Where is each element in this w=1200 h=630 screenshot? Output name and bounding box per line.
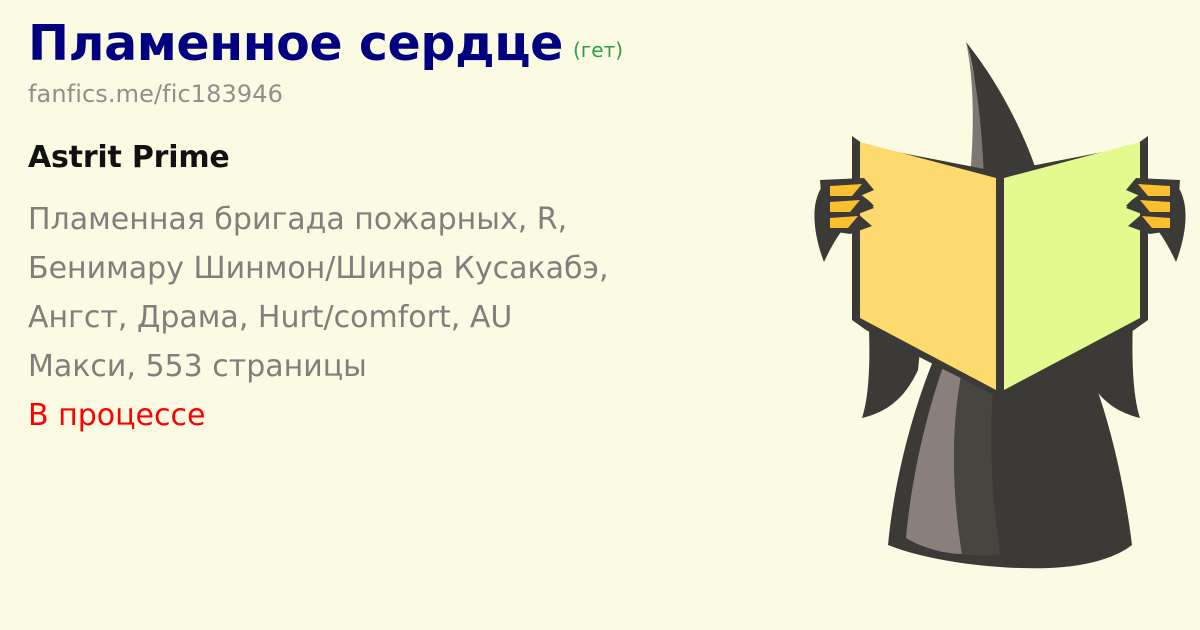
book-spine — [998, 172, 1002, 398]
witch-reading-book-icon — [800, 0, 1200, 630]
category-badge: (гет) — [573, 38, 623, 62]
left-claw-1 — [830, 184, 862, 196]
open-book — [852, 136, 1148, 398]
left-claw-3 — [830, 216, 858, 228]
right-claw-2 — [1140, 200, 1170, 212]
robe-group — [888, 320, 1132, 568]
right-sleeve — [1072, 228, 1140, 418]
hat-cone — [964, 42, 1052, 244]
left-claw-2 — [830, 200, 860, 212]
meta-line-fandom-rating: Пламенная бригада пожарных, R, — [28, 195, 818, 244]
author-name[interactable]: Astrit Prime — [28, 140, 818, 175]
title-row: Пламенное сердце (гет) — [28, 18, 818, 71]
right-hand-fingers — [1126, 178, 1180, 234]
hat-brim — [938, 200, 1068, 298]
hat-buckle-icon — [1002, 228, 1040, 268]
left-hand-fingers — [820, 178, 874, 234]
witch-reading-book-illustration — [800, 0, 1200, 630]
fanfic-metadata: Пламенная бригада пожарных, R, Бенимару … — [28, 195, 818, 440]
right-hand — [1126, 178, 1186, 262]
right-claw-1 — [1138, 184, 1170, 196]
left-page — [860, 142, 996, 390]
sleeves-group — [860, 228, 1140, 418]
right-claw-3 — [1142, 216, 1170, 228]
status-badge: В процессе — [28, 391, 818, 440]
left-sleeve — [860, 228, 930, 418]
robe-body — [888, 320, 1132, 568]
left-hand-back — [814, 182, 874, 262]
hat-band-highlight — [940, 200, 968, 282]
hat-highlight — [964, 42, 986, 232]
meta-line-genres: Ангст, Драма, Hurt/comfort, AU — [28, 293, 818, 342]
left-hand — [814, 178, 874, 262]
witch-hat — [938, 42, 1068, 298]
robe-inner-shade — [954, 330, 1002, 556]
page-title: Пламенное сердце — [28, 18, 563, 71]
right-hand-back — [1126, 182, 1186, 262]
buckle-hole — [1012, 239, 1031, 257]
fanfic-info-column: Пламенное сердце (гет) fanfics.me/fic183… — [28, 18, 818, 440]
robe-highlight — [906, 330, 972, 554]
meta-line-pairing: Бенимару Шинмон/Шинра Кусакабэ, — [28, 244, 818, 293]
left-page-outline — [852, 136, 1000, 398]
buckle-outer — [1002, 228, 1040, 268]
source-url[interactable]: fanfics.me/fic183946 — [28, 80, 818, 108]
right-page-outline — [1000, 136, 1148, 398]
meta-line-size-pages: Макси, 553 страницы — [28, 342, 818, 391]
fanfic-preview-card: Пламенное сердце (гет) fanfics.me/fic183… — [0, 0, 1200, 630]
right-page — [1004, 142, 1140, 390]
